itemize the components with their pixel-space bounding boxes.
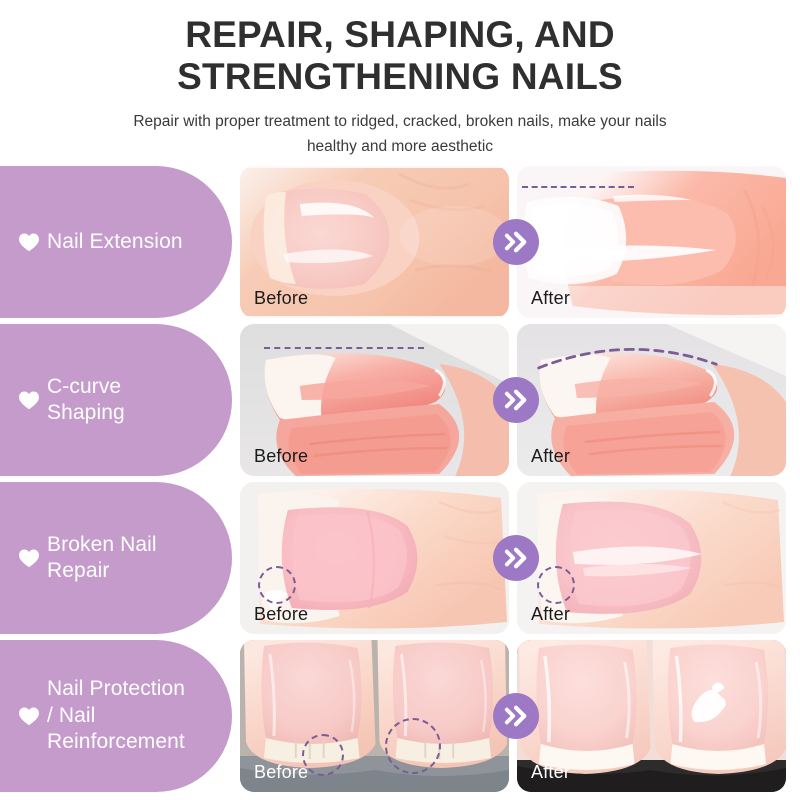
heart-icon bbox=[18, 706, 40, 726]
after-caption: After bbox=[531, 288, 570, 309]
repaired-area-dashed-circle bbox=[537, 566, 575, 604]
double-chevron-right-icon bbox=[493, 377, 539, 423]
after-panel[interactable]: After bbox=[517, 324, 786, 476]
after-panel[interactable]: After bbox=[517, 482, 786, 634]
before-caption: Before bbox=[254, 762, 308, 783]
feature-rows: Nail Extension bbox=[0, 166, 800, 792]
flat-curve-dashed-line bbox=[264, 347, 424, 349]
nail-tip-dashed-circle-right bbox=[385, 718, 441, 774]
nail-tip-dashed-circle-left bbox=[302, 734, 344, 776]
after-caption: After bbox=[531, 604, 570, 625]
before-after-panels: Before bbox=[232, 640, 800, 792]
feature-label-pill-broken-nail-repair[interactable]: Broken Nail Repair bbox=[0, 482, 232, 634]
heart-icon bbox=[18, 548, 40, 568]
feature-row: Nail Extension bbox=[0, 166, 800, 318]
before-caption: Before bbox=[254, 604, 308, 625]
feature-row: C-curve Shaping bbox=[0, 324, 800, 476]
after-caption: After bbox=[531, 446, 570, 467]
feature-label-text: C-curve Shaping bbox=[47, 374, 125, 427]
after-panel[interactable]: After bbox=[517, 166, 786, 318]
header: REPAIR, SHAPING, AND STRENGTHENING NAILS… bbox=[0, 0, 800, 160]
double-chevron-right-icon bbox=[493, 693, 539, 739]
feature-label-pill-nail-protection[interactable]: Nail Protection / Nail Reinforcement bbox=[0, 640, 232, 792]
before-caption: Before bbox=[254, 288, 308, 309]
heart-icon bbox=[18, 232, 40, 252]
before-panel[interactable]: Before bbox=[240, 640, 509, 792]
page-title: REPAIR, SHAPING, AND STRENGTHENING NAILS bbox=[0, 14, 800, 98]
feature-label-text: Nail Protection / Nail Reinforcement bbox=[47, 676, 185, 755]
before-panel[interactable]: Before bbox=[240, 166, 509, 318]
before-after-panels: Before bbox=[232, 482, 800, 634]
page-subtitle: Repair with proper treatment to ridged, … bbox=[0, 109, 800, 159]
feature-label-pill-c-curve-shaping[interactable]: C-curve Shaping bbox=[0, 324, 232, 476]
after-panel[interactable]: After bbox=[517, 640, 786, 792]
feature-label-text: Nail Extension bbox=[47, 229, 183, 255]
before-after-panels: Before bbox=[232, 166, 800, 318]
before-caption: Before bbox=[254, 446, 308, 467]
feature-label-pill-nail-extension[interactable]: Nail Extension bbox=[0, 166, 232, 318]
double-chevron-right-icon bbox=[493, 219, 539, 265]
double-chevron-right-icon bbox=[493, 535, 539, 581]
heart-icon bbox=[18, 390, 40, 410]
c-curve-dashed-arc bbox=[535, 336, 720, 374]
before-panel[interactable]: Before bbox=[240, 482, 509, 634]
feature-row: Nail Protection / Nail Reinforcement bbox=[0, 640, 800, 792]
extension-length-dashed-line bbox=[522, 186, 634, 188]
after-caption: After bbox=[531, 762, 570, 783]
before-after-panels: Before bbox=[232, 324, 800, 476]
before-panel[interactable]: Before bbox=[240, 324, 509, 476]
broken-area-dashed-circle bbox=[258, 566, 296, 604]
feature-row: Broken Nail Repair bbox=[0, 482, 800, 634]
feature-label-text: Broken Nail Repair bbox=[47, 532, 157, 585]
